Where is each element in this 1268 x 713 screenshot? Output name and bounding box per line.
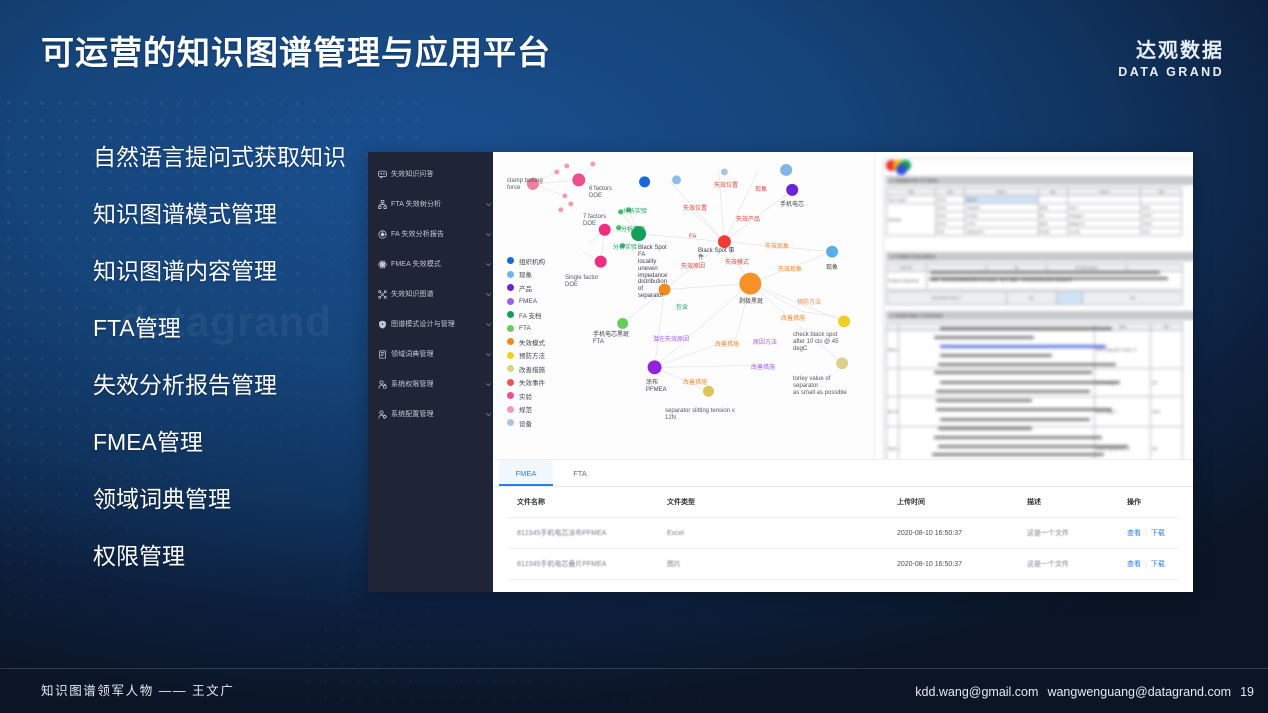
legend-item[interactable]: FMEA bbox=[507, 295, 545, 309]
footer-divider bbox=[0, 668, 1268, 669]
tab-fta[interactable]: FTA bbox=[553, 460, 607, 486]
knowledge-graph-canvas bbox=[493, 152, 874, 459]
feature-item: 知识图谱模式管理 bbox=[93, 203, 373, 226]
table-header-row: 文件名称文件类型上传时间描述操作 bbox=[507, 487, 1179, 518]
table-row[interactable]: 812345手机电芯涂布PFMEAExcel2020-08-10 16:50:3… bbox=[507, 518, 1179, 549]
legend-color-dot bbox=[507, 325, 514, 332]
legend-color-dot bbox=[507, 257, 514, 264]
legend-item[interactable]: FA 支档 bbox=[507, 308, 545, 322]
sidebar-item-label: FTA 失效树分析 bbox=[391, 199, 483, 209]
sidebar-item-label: 失效知识问答 bbox=[391, 169, 483, 179]
user-lock-icon bbox=[377, 379, 387, 389]
sidebar-item-6[interactable]: 图谱模式设计与管理 bbox=[368, 313, 493, 335]
legend-label: 失效事件 bbox=[519, 377, 545, 387]
legend-color-dot bbox=[507, 365, 514, 372]
legend-label: 失效模式 bbox=[519, 337, 545, 347]
sidebar-item-label: FA 失效分析报告 bbox=[391, 229, 483, 239]
legend-label: 产品 bbox=[519, 283, 532, 293]
legend-color-dot bbox=[507, 406, 514, 413]
footer-contact: kdd.wang@gmail.com wangwenguang@datagran… bbox=[915, 685, 1254, 699]
legend-label: 预防方法 bbox=[519, 350, 545, 360]
legend-color-dot bbox=[507, 311, 514, 318]
legend-color-dot bbox=[507, 379, 514, 386]
table-header-cell: 上传时间 bbox=[897, 497, 1027, 507]
sidebar-item-3[interactable]: FA 失效分析报告 bbox=[368, 223, 493, 245]
cell-actions: 查看|下载 bbox=[1127, 559, 1179, 569]
legend-item[interactable]: 失效模式 bbox=[507, 335, 545, 349]
chevron-down-icon[interactable] bbox=[483, 321, 493, 328]
report-table-1: TitleQty NameQty NameQty Test Leader1PCS… bbox=[886, 187, 1182, 236]
legend-label: FMEA bbox=[519, 298, 537, 305]
download-link[interactable]: 下载 bbox=[1151, 561, 1165, 568]
tree-icon bbox=[377, 199, 387, 209]
user-gear-icon bbox=[377, 409, 387, 419]
shield-icon bbox=[377, 319, 387, 329]
brand-name-cn: 达观数据 bbox=[1118, 40, 1224, 63]
download-link[interactable]: 下载 bbox=[1151, 530, 1165, 537]
sidebar-item-label: 系统权限管理 bbox=[391, 379, 483, 389]
report-table-3: Recreation Issue ? No Yes bbox=[886, 291, 1183, 305]
legend-label: FA 支档 bbox=[519, 310, 541, 320]
legend-item[interactable]: FTA bbox=[507, 322, 545, 336]
legend-color-dot bbox=[507, 271, 514, 278]
app-sidebar: 失效知识问答FTA 失效树分析FA 失效分析报告FMEA 失效模式失效知识图谱图… bbox=[368, 152, 493, 592]
chevron-down-icon[interactable] bbox=[483, 381, 493, 388]
action-separator: | bbox=[1145, 561, 1147, 568]
legend-label: FTA bbox=[519, 325, 531, 332]
slide-canvas: datagrand 可运营的知识图谱管理与应用平台 达观数据 DATA GRAN… bbox=[0, 0, 1268, 713]
legend-item[interactable]: 规范 bbox=[507, 403, 545, 417]
cell-actions: 查看|下载 bbox=[1127, 528, 1179, 538]
sidebar-item-label: 领域词典管理 bbox=[391, 349, 483, 359]
cell-description: 这是一个文件 bbox=[1027, 528, 1127, 538]
book-icon bbox=[377, 349, 387, 359]
app-main: clamp batting force6 factors DOE7 factor… bbox=[493, 152, 1193, 592]
sidebar-item-7[interactable]: 领域词典管理 bbox=[368, 343, 493, 365]
feature-item: 领域词典管理 bbox=[93, 488, 373, 511]
feature-item: FTA管理 bbox=[93, 317, 373, 340]
legend-item[interactable]: 预防方法 bbox=[507, 349, 545, 363]
sidebar-item-label: 失效知识图谱 bbox=[391, 289, 483, 299]
legend-color-dot bbox=[507, 419, 514, 426]
atom-icon bbox=[377, 259, 387, 269]
cell-upload-time: 2020-08-10 16:50:37 bbox=[897, 530, 1027, 537]
sidebar-item-1[interactable]: 失效知识问答 bbox=[368, 163, 493, 185]
footer-email-2: wangwenguang@datagrand.com bbox=[1047, 685, 1231, 699]
app-screenshot-window: 失效知识问答FTA 失效树分析FA 失效分析报告FMEA 失效模式失效知识图谱图… bbox=[368, 152, 1193, 592]
table-header-cell: 文件名称 bbox=[507, 497, 667, 507]
footer-page-number: 19 bbox=[1240, 685, 1254, 699]
chat-icon bbox=[377, 169, 387, 179]
target-icon bbox=[377, 229, 387, 239]
legend-label: 规范 bbox=[519, 404, 532, 414]
chevron-down-icon[interactable] bbox=[483, 201, 493, 208]
cell-file-type: 图片 bbox=[667, 559, 897, 569]
legend-item[interactable]: 产品 bbox=[507, 281, 545, 295]
view-link[interactable]: 查看 bbox=[1127, 561, 1141, 568]
legend-color-dot bbox=[507, 392, 514, 399]
legend-item[interactable]: 现象 bbox=[507, 268, 545, 282]
content-tabs[interactable]: FMEAFTA bbox=[493, 460, 1193, 487]
table-header-cell: 操作 bbox=[1127, 497, 1179, 507]
cell-file-type: Excel bbox=[667, 530, 897, 537]
graph-icon bbox=[377, 289, 387, 299]
legend-label: 改善措施 bbox=[519, 364, 545, 374]
report-section-3-band: 4. Detail Data / Conclusion bbox=[886, 311, 1193, 320]
legend-item[interactable]: 改善措施 bbox=[507, 362, 545, 376]
feature-item: 知识图谱内容管理 bbox=[93, 260, 373, 283]
cell-description: 这是一个文件 bbox=[1027, 559, 1127, 569]
sidebar-item-label: FMEA 失效模式 bbox=[391, 259, 483, 269]
brand-logo: 达观数据 DATA GRAND bbox=[1118, 40, 1224, 79]
report-section-1-band: 2. Detailed the FA Items bbox=[886, 176, 1193, 185]
legend-label: 设备 bbox=[519, 418, 532, 428]
action-separator: | bbox=[1145, 530, 1147, 537]
footer-author: 知识图谱领军人物 —— 王文广 bbox=[41, 680, 234, 699]
page-title: 可运营的知识图谱管理与应用平台 bbox=[41, 26, 551, 74]
feature-list: 自然语言提问式获取知识知识图谱模式管理知识图谱内容管理FTA管理失效分析报告管理… bbox=[93, 146, 373, 568]
legend-label: 现象 bbox=[519, 269, 532, 279]
chevron-down-icon[interactable] bbox=[483, 411, 493, 418]
cell-file-name: 812345手机电芯叠片PFMEA bbox=[507, 559, 667, 569]
legend-item[interactable]: 组织机构 bbox=[507, 254, 545, 268]
cell-file-name: 812345手机电芯涂布PFMEA bbox=[507, 528, 667, 538]
chevron-down-icon[interactable] bbox=[483, 291, 493, 298]
table-header-cell: 描述 bbox=[1027, 497, 1127, 507]
legend-color-dot bbox=[507, 298, 514, 305]
sidebar-item-9[interactable]: 系统配置管理 bbox=[368, 403, 493, 425]
app-upper-panes: clamp batting force6 factors DOE7 factor… bbox=[493, 152, 1193, 460]
legend-color-dot bbox=[507, 284, 514, 291]
chevron-down-icon[interactable] bbox=[483, 351, 493, 358]
feature-item: 权限管理 bbox=[93, 545, 373, 568]
chevron-down-icon[interactable] bbox=[483, 261, 493, 268]
legend-item[interactable]: 失效事件 bbox=[507, 376, 545, 390]
sidebar-item-8[interactable]: 系统权限管理 bbox=[368, 373, 493, 395]
feature-item: FMEA管理 bbox=[93, 431, 373, 454]
sidebar-item-2[interactable]: FTA 失效树分析 bbox=[368, 193, 493, 215]
legend-item[interactable]: 设备 bbox=[507, 416, 545, 430]
cell-upload-time: 2020-08-10 16:50:37 bbox=[897, 561, 1027, 568]
report-logo-icon bbox=[886, 160, 916, 175]
report-section-2-band: 3. Problem Description bbox=[886, 252, 1193, 261]
brand-name-en: DATA GRAND bbox=[1118, 65, 1224, 79]
feature-item: 失效分析报告管理 bbox=[93, 374, 373, 397]
legend-color-dot bbox=[507, 352, 514, 359]
feature-item: 自然语言提问式获取知识 bbox=[93, 146, 373, 169]
sidebar-item-4[interactable]: FMEA 失效模式 bbox=[368, 253, 493, 275]
knowledge-graph-legend: 组织机构现象产品FMEAFA 支档FTA失效模式预防方法改善措施失效事件实验规范… bbox=[507, 254, 545, 430]
legend-item[interactable]: 实验 bbox=[507, 389, 545, 403]
report-document-pane[interactable]: 2. Detailed the FA Items TitleQty NameQt… bbox=[875, 152, 1193, 459]
view-link[interactable]: 查看 bbox=[1127, 530, 1141, 537]
table-row[interactable]: 812345手机电芯叠片PFMEA图片2020-08-10 16:50:37这是… bbox=[507, 549, 1179, 580]
footer-email-1: kdd.wang@gmail.com bbox=[915, 685, 1038, 699]
file-table: 文件名称文件类型上传时间描述操作812345手机电芯涂布PFMEAExcel20… bbox=[493, 487, 1193, 592]
table-header-cell: 文件类型 bbox=[667, 497, 897, 507]
sidebar-item-label: 系统配置管理 bbox=[391, 409, 483, 419]
report-document-sheet: 2. Detailed the FA Items TitleQty NameQt… bbox=[883, 158, 1193, 459]
knowledge-graph-pane[interactable]: clamp batting force6 factors DOE7 factor… bbox=[493, 152, 875, 459]
legend-label: 组织机构 bbox=[519, 256, 545, 266]
chevron-down-icon[interactable] bbox=[483, 231, 493, 238]
tab-fmea[interactable]: FMEA bbox=[499, 460, 553, 486]
legend-label: 实验 bbox=[519, 391, 532, 401]
sidebar-item-5[interactable]: 失效知识图谱 bbox=[368, 283, 493, 305]
sidebar-item-label: 图谱模式设计与管理 bbox=[391, 319, 483, 329]
legend-color-dot bbox=[507, 338, 514, 345]
